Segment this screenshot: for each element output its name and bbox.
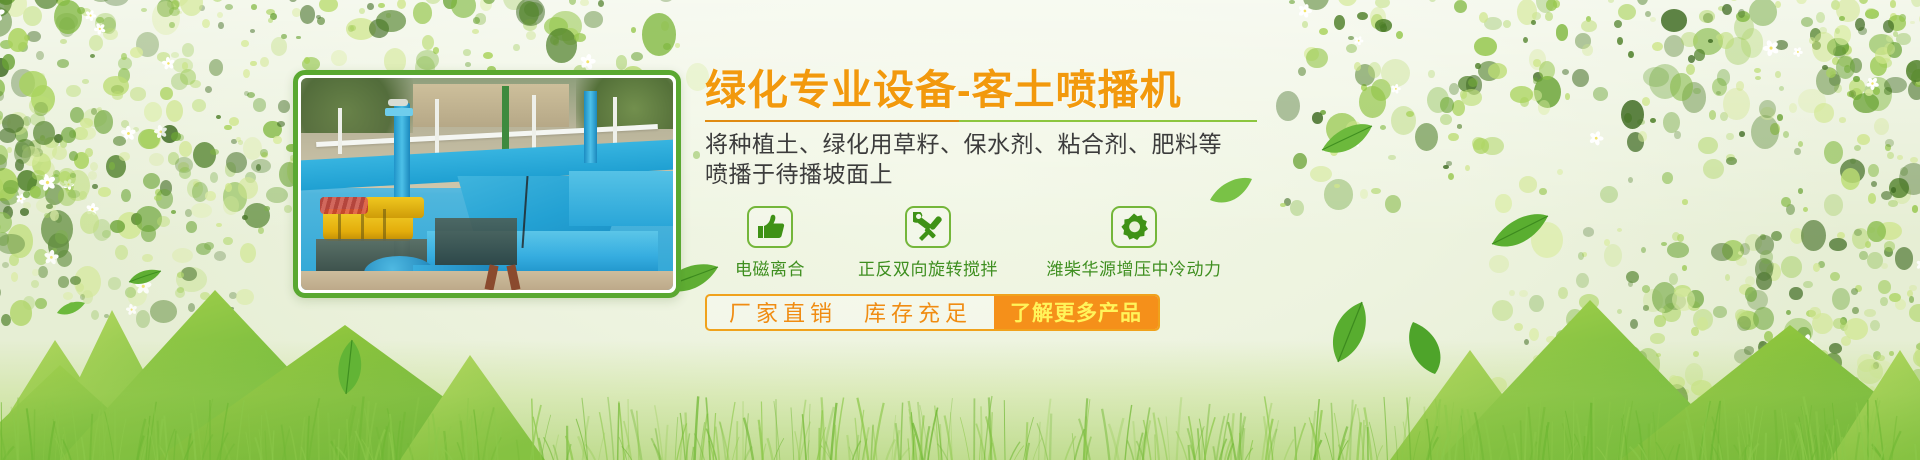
flower-icon	[63, 179, 74, 190]
subtitle-line-1: 将种植土、绿化用草籽、保水剂、粘合剂、肥料等	[705, 129, 1305, 159]
flower-icon	[119, 124, 138, 143]
title-underline-rule	[705, 120, 1257, 122]
flower-icon	[0, 2, 7, 25]
flower-icon	[1349, 136, 1362, 149]
flower-icon	[84, 9, 97, 22]
subtitle-line-2: 喷播于待播坡面上	[705, 159, 1305, 189]
feature-icon-box	[905, 206, 951, 248]
thumbs-up-icon	[755, 214, 785, 240]
wrench-screwdriver-icon	[913, 212, 943, 242]
feature-list: 电磁离合 正反双向旋转搅拌	[705, 206, 1305, 280]
feature-label: 正反双向旋转搅拌	[835, 255, 1021, 280]
cta-bar: 厂家直销 库存充足 了解更多产品	[705, 294, 1160, 331]
gear-icon	[1119, 212, 1149, 242]
feature-label: 潍柴华源增压中冷动力	[1021, 255, 1247, 280]
grass-silhouette	[0, 330, 1920, 460]
feature-label: 电磁离合	[705, 255, 835, 280]
flower-icon	[1390, 82, 1402, 94]
flower-icon	[151, 123, 169, 141]
product-photo	[301, 78, 673, 290]
flower-icon	[160, 54, 177, 71]
flower-icon	[35, 171, 59, 195]
feature-icon-box	[747, 206, 793, 248]
watercolor-foliage-top-right	[1280, 0, 1920, 210]
leaf-icon	[1320, 120, 1374, 160]
flower-icon	[1864, 75, 1882, 93]
flower-icon	[579, 52, 597, 70]
flower-icon	[1353, 35, 1363, 45]
feature-item-electromagnetic-clutch[interactable]: 电磁离合	[705, 206, 835, 280]
learn-more-button[interactable]: 了解更多产品	[994, 296, 1158, 329]
product-photo-frame[interactable]	[293, 70, 681, 298]
page-title: 绿化专业设备-客土喷播机	[705, 68, 1305, 114]
feature-item-weichai-power[interactable]: 潍柴华源增压中冷动力	[1021, 206, 1247, 280]
cta-slogan: 厂家直销 库存充足	[707, 296, 994, 329]
promo-banner: 绿化专业设备-客土喷播机 将种植土、绿化用草籽、保水剂、粘合剂、肥料等 喷播于待…	[0, 0, 1920, 460]
feature-icon-box	[1111, 206, 1157, 248]
flower-icon	[1586, 128, 1606, 148]
flower-icon	[1763, 40, 1780, 57]
flower-icon	[1296, 2, 1313, 19]
feature-item-bidirectional-mixing[interactable]: 正反双向旋转搅拌	[835, 206, 1021, 280]
flower-icon	[14, 192, 26, 204]
banner-subtitle: 将种植土、绿化用草籽、保水剂、粘合剂、肥料等 喷播于待播坡面上	[705, 129, 1305, 190]
flower-icon	[84, 200, 101, 217]
flower-icon	[1792, 46, 1803, 57]
flower-icon	[93, 22, 106, 35]
banner-content: 绿化专业设备-客土喷播机 将种植土、绿化用草籽、保水剂、粘合剂、肥料等 喷播于待…	[705, 68, 1305, 331]
